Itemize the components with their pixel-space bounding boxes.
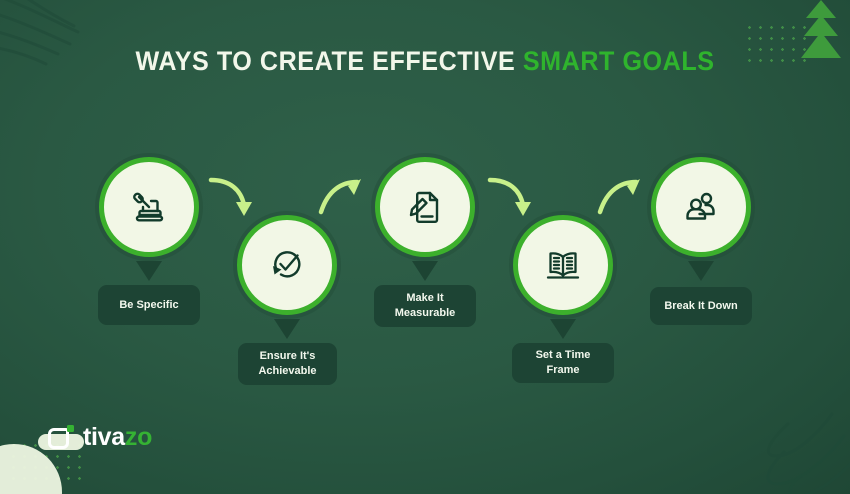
step-1-pointer — [136, 261, 162, 281]
step-1-circle[interactable] — [99, 157, 199, 257]
step-4[interactable] — [513, 215, 613, 315]
page-title-accent: SMART GOALS — [523, 46, 715, 76]
step-2-icon-wrap — [247, 225, 327, 305]
step-2-label-text: Ensure It's Achievable — [248, 349, 327, 379]
step-1-icon-wrap — [109, 167, 189, 247]
step-4-circle[interactable] — [513, 215, 613, 315]
step-5-circle[interactable] — [651, 157, 751, 257]
document-pen-icon — [405, 187, 445, 227]
step-5-pointer — [688, 261, 714, 281]
step-3-label[interactable]: Make It Measurable — [374, 285, 476, 327]
step-5-label-text: Break It Down — [664, 299, 737, 314]
open-book-icon — [543, 245, 583, 285]
step-5-label[interactable]: Break It Down — [650, 287, 752, 325]
people-group-icon — [681, 187, 721, 227]
leaf-strokes-bottom-right-icon — [740, 390, 850, 494]
step-2-label[interactable]: Ensure It's Achievable — [238, 343, 337, 385]
arrow-4-to-5-icon — [595, 176, 643, 218]
step-4-icon-wrap — [523, 225, 603, 305]
page-title: WAYS TO CREATE EFFECTIVE SMART GOALS — [30, 46, 821, 77]
step-2-pointer — [274, 319, 300, 339]
logo[interactable]: tivazo — [48, 423, 152, 452]
step-5-icon-wrap — [661, 167, 741, 247]
step-2-circle[interactable] — [237, 215, 337, 315]
check-cycle-icon — [267, 245, 307, 285]
step-3-icon-wrap — [385, 167, 465, 247]
step-3-circle[interactable] — [375, 157, 475, 257]
step-1[interactable] — [99, 157, 199, 257]
arrow-1-to-2-icon — [208, 176, 256, 218]
logo-text: tivazo — [83, 423, 152, 452]
arrow-3-to-4-icon — [487, 176, 535, 218]
logo-mark-icon — [48, 425, 74, 451]
step-5[interactable] — [651, 157, 751, 257]
infographic-canvas: WAYS TO CREATE EFFECTIVE SMART GOALS — [0, 0, 850, 494]
step-1-label[interactable]: Be Specific — [98, 285, 200, 325]
step-2[interactable] — [237, 215, 337, 315]
page-title-main: WAYS TO CREATE EFFECTIVE — [135, 46, 522, 76]
logo-text-primary: tiva — [83, 423, 125, 451]
logo-text-accent: zo — [125, 423, 152, 451]
step-3[interactable] — [375, 157, 475, 257]
arrow-2-to-3-icon — [316, 176, 364, 218]
step-3-pointer — [412, 261, 438, 281]
step-4-label-text: Set a Time Frame — [522, 348, 604, 378]
step-4-pointer — [550, 319, 576, 339]
stamp-icon — [129, 187, 169, 227]
step-3-label-text: Make It Measurable — [384, 291, 466, 321]
step-1-label-text: Be Specific — [119, 298, 178, 313]
step-4-label[interactable]: Set a Time Frame — [512, 343, 614, 383]
